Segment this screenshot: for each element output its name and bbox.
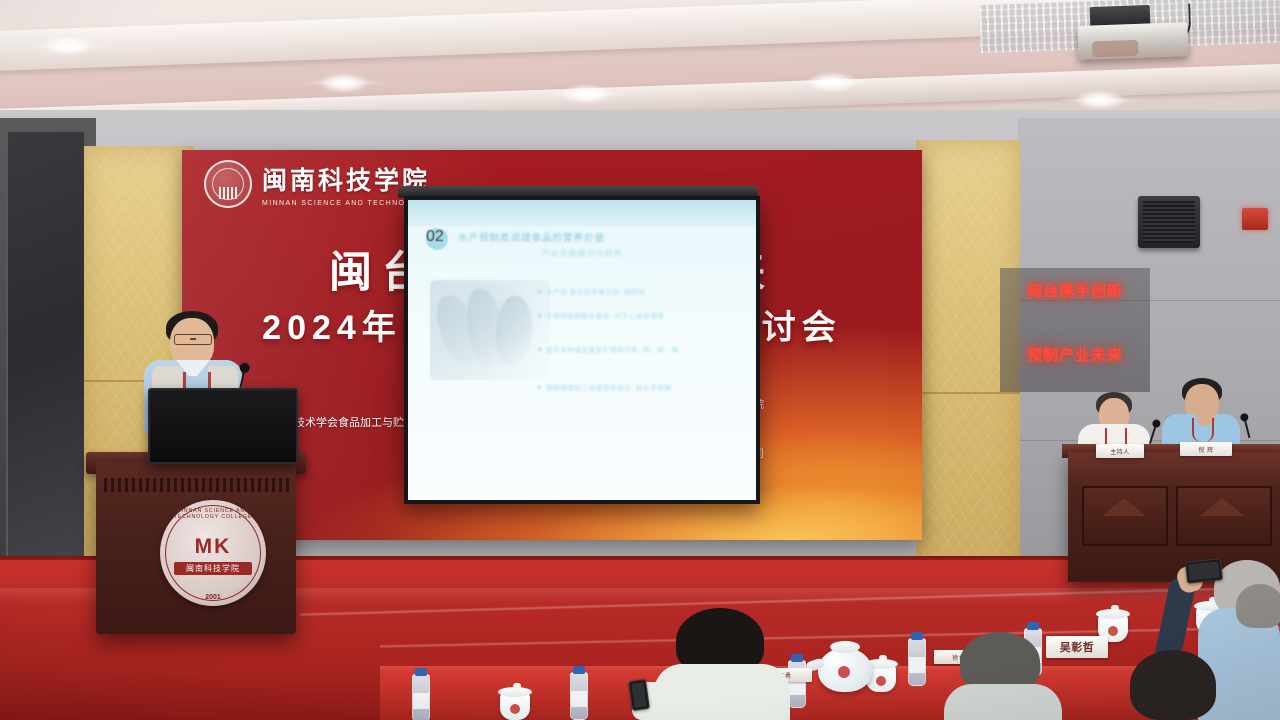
bottle-label — [571, 691, 587, 707]
person-hair — [960, 632, 1040, 692]
projector-icon — [1077, 22, 1188, 60]
downlight-icon — [318, 73, 370, 93]
slide-title: 水产预制类调理食品的营养价值 — [458, 230, 728, 244]
panel-seam — [916, 392, 1020, 394]
water-bottle — [908, 638, 926, 686]
panel-chevron — [1200, 498, 1244, 516]
person-body — [944, 684, 1062, 720]
ceiling — [0, 0, 1280, 122]
led-display: 闽台携手创新 预制产业未来 — [1000, 268, 1150, 392]
slide-bullet-text: 不饱和脂肪酸含量高, 利于心血管健康 — [546, 313, 664, 320]
tea-cup — [500, 692, 530, 720]
slide-bullet: 水产品 富含优质蛋白质, 脂肪低 — [546, 288, 742, 298]
cup-knob — [1111, 605, 1119, 611]
person-hair — [1130, 650, 1216, 720]
smartphone-icon — [1185, 558, 1223, 584]
speaker-grille — [1143, 201, 1195, 243]
seal-inner — [212, 168, 244, 200]
table-front-panel — [1176, 486, 1272, 546]
college-seal-icon — [204, 160, 252, 208]
head-table-placard: 主持人 — [1096, 444, 1144, 458]
bullet-dot-icon — [538, 386, 541, 389]
emblem-chinese-name: 闽南科技学院 — [174, 562, 252, 575]
cup-emblem — [876, 676, 886, 686]
podium-college-emblem: MINNAN SCIENCE AND TECHNOLOGY COLLEGE MK… — [160, 500, 266, 606]
led-line-1: 闽台携手创新 — [1000, 280, 1150, 301]
slide-image — [430, 280, 550, 380]
water-bottle — [412, 674, 430, 720]
cup-knob — [879, 655, 887, 661]
panel-chevron — [1102, 498, 1146, 516]
cup-knob — [513, 683, 521, 689]
slide-badge: 02 — [426, 228, 448, 250]
bullet-dot-icon — [538, 348, 541, 351]
projection-screen-frame: 02 水产预制类调理食品的营养价值 产业发展概况与趋势 水产品 富含优质蛋白质,… — [404, 196, 760, 504]
slide-subtitle: 产业发展概况与趋势 — [408, 248, 756, 259]
slide-bullet-text: 富含多种维生素及矿物质元素, 钙、磷、碘 — [546, 347, 679, 354]
emblem-english-top: MINNAN SCIENCE AND TECHNOLOGY COLLEGE — [160, 508, 266, 520]
table-front-panel — [1082, 486, 1168, 546]
person-hair — [1236, 584, 1280, 628]
bottle-label — [909, 657, 925, 673]
bottle-cap — [415, 668, 427, 676]
bullet-dot-icon — [538, 314, 541, 317]
person-body — [654, 664, 790, 720]
bottle-label — [413, 693, 429, 709]
cup-emblem — [510, 704, 520, 714]
emblem-monogram: MK — [160, 536, 266, 557]
slide-bullet: 不饱和脂肪酸含量高, 利于心血管健康 — [546, 312, 742, 322]
cup-emblem — [1108, 626, 1118, 636]
projection-screen: 02 水产预制类调理食品的营养价值 产业发展概况与趋势 水产品 富含优质蛋白质,… — [408, 200, 756, 500]
phone-screen — [631, 682, 646, 707]
downlight-icon — [560, 84, 612, 104]
downlight-icon — [806, 72, 858, 92]
podium-monitor — [148, 388, 298, 464]
projector-lens — [1092, 40, 1139, 58]
slide-header-band — [408, 200, 756, 226]
head-table-placard: 倪 辉 — [1180, 442, 1232, 456]
lanyard-icon — [1192, 418, 1214, 442]
emblem-year: 2001 — [160, 594, 266, 601]
bottle-cap — [791, 654, 803, 662]
glasses-icon — [174, 334, 212, 345]
bottle-cap — [573, 666, 585, 674]
water-bottle — [570, 672, 588, 720]
slide-bullet-text: 水产品 富含优质蛋白质, 脂肪低 — [546, 289, 646, 296]
tea-pot — [818, 648, 872, 692]
podium-trim — [104, 478, 290, 492]
seal-bars — [219, 187, 237, 199]
slide-bullet-text: 预制调理加工保留营养成分, 延长货架期 — [546, 385, 672, 392]
slide-bullet: 富含多种维生素及矿物质元素, 钙、磷、碘 — [546, 346, 742, 356]
audience-placard: 吴彰哲 — [1046, 636, 1108, 658]
downlight-icon — [1074, 90, 1126, 110]
pot-emblem — [838, 666, 850, 678]
bullet-dot-icon — [538, 290, 541, 293]
phone-screen — [1188, 561, 1220, 580]
led-line-2: 预制产业未来 — [1000, 344, 1150, 365]
bottle-cap — [1027, 622, 1039, 630]
bottle-cap — [911, 632, 923, 640]
downlight-icon — [42, 36, 94, 56]
exit-sign-icon — [1242, 208, 1268, 230]
slide-bullet: 预制调理加工保留营养成分, 延长货架期 — [546, 384, 742, 394]
pot-lid — [830, 641, 860, 653]
wall-speaker-icon — [1138, 196, 1200, 248]
conference-hall-photo: 闽台携手创新 预制产业未来 闽南科技学院 MINNAN SCIENCE AND … — [0, 0, 1280, 720]
left-wall-glass — [6, 130, 86, 564]
